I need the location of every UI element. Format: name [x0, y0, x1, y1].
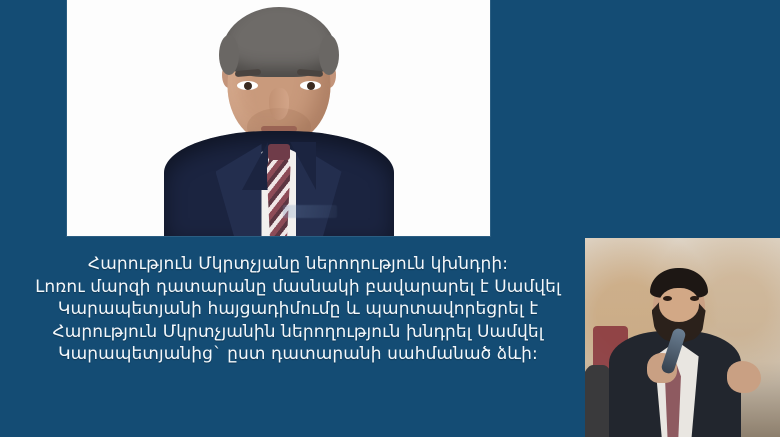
portrait-figure — [164, 0, 394, 236]
inset-speaker-right-hand — [727, 361, 761, 393]
inset-speaker-right-eye — [690, 296, 699, 301]
necktie-knot — [268, 144, 290, 160]
caption-line-2: Լոռու մարզի դատարանը մասնակի բավարարել է… — [0, 276, 596, 299]
caption-line-3: Կարապետյանի հայցադիմումը և պարտավորեցրել… — [0, 298, 596, 321]
left-collar — [242, 142, 268, 190]
nose — [269, 88, 289, 120]
left-eye — [237, 81, 258, 90]
inset-speaker-face — [659, 288, 699, 322]
image-canvas: Հարություն Մկրտչյանը ներողություն կխնդրի… — [0, 0, 780, 437]
inset-speaker-left-eye — [663, 296, 672, 301]
inset-speaker-photo — [585, 238, 780, 437]
necktie — [267, 148, 291, 236]
caption-line-5: Կարապետյանից` ըստ դատարանի սահմանած ձևի: — [0, 343, 596, 366]
caption-line-4: Հարություն Մկրտչյանին ներողություն խնդրե… — [0, 321, 596, 344]
caption-line-1: Հարություն Մկրտչյանը ներողություն կխնդրի… — [0, 253, 596, 276]
right-eye — [300, 81, 321, 90]
right-collar — [290, 142, 316, 190]
main-portrait-photo — [67, 0, 490, 236]
hair — [221, 7, 337, 77]
photo-watermark — [283, 205, 337, 218]
caption-text-block: Հարություն Մկրտչյանը ներողություն կխնդրի… — [0, 253, 596, 366]
